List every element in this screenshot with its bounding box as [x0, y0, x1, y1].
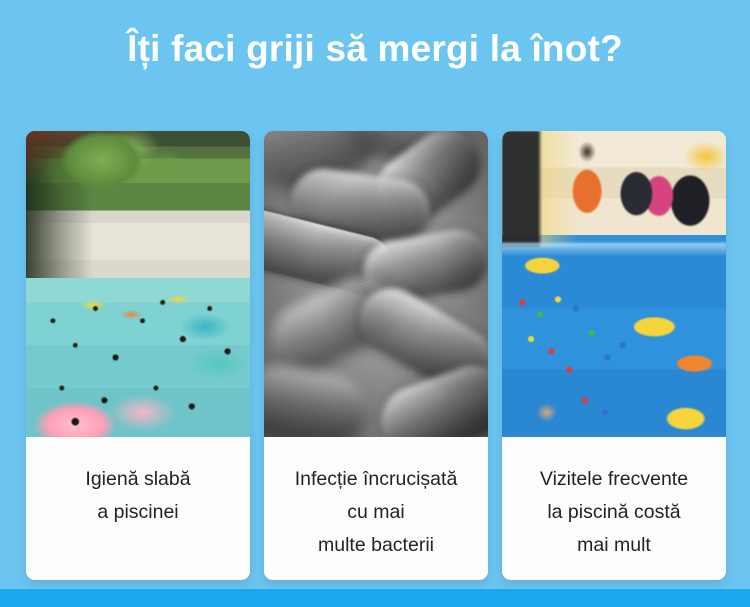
page-title: Îți faci griji să mergi la înot?: [0, 26, 750, 72]
caption-line: Infecție încrucișată: [264, 463, 488, 496]
bottom-accent-bar: [0, 589, 750, 607]
caption-line: la piscină costă: [502, 496, 726, 529]
caption-line: multe bacterii: [264, 529, 488, 562]
caption-line: Vizitele frecvente: [502, 463, 726, 496]
card-frequent-visits-cost[interactable]: Vizitele frecvente la piscină costă mai …: [502, 131, 726, 580]
photo-vignette: [264, 131, 488, 437]
card-caption-cross-infection: Infecție încrucișată cu mai multe bacter…: [264, 437, 488, 580]
card-caption-frequent-visits: Vizitele frecvente la piscină costă mai …: [502, 437, 726, 580]
card-list: Igienă slabă a piscinei Infecție: [26, 131, 726, 580]
caption-line: Igienă slabă: [26, 463, 250, 496]
caption-line: cu mai: [264, 496, 488, 529]
caption-line: a piscinei: [26, 496, 250, 529]
bacteria-microscopy-photo: [264, 131, 488, 437]
card-caption-pool-hygiene: Igienă slabă a piscinei: [26, 437, 250, 580]
indoor-baby-pool-photo: [502, 131, 726, 437]
card-pool-hygiene[interactable]: Igienă slabă a piscinei: [26, 131, 250, 580]
crowded-outdoor-swimming-pool-photo: [26, 131, 250, 437]
caption-line: mai mult: [502, 529, 726, 562]
card-cross-infection[interactable]: Infecție încrucișată cu mai multe bacter…: [264, 131, 488, 580]
poster-root: Îți faci griji să mergi la înot? Igienă …: [0, 0, 750, 607]
